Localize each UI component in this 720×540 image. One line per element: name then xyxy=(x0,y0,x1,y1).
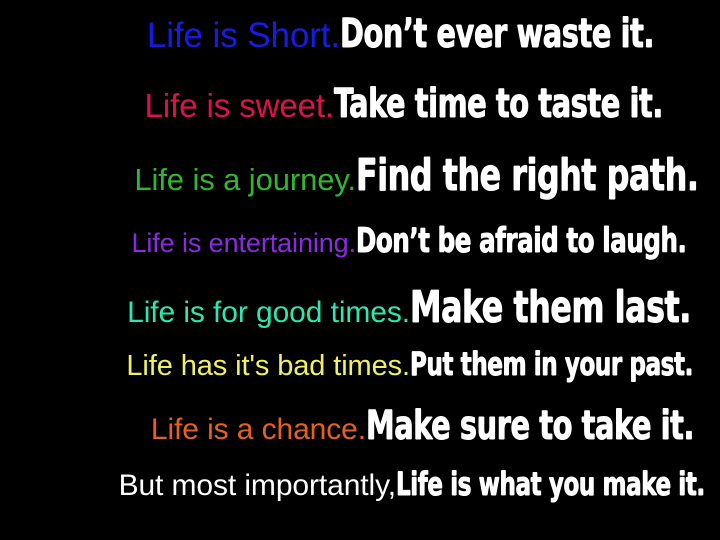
quote-line-2-response: Take time to taste it. xyxy=(334,84,663,124)
quote-line-2-prompt: Life is sweet. xyxy=(4,89,334,122)
quote-line-7: Life is a chance. Make sure to take it. xyxy=(0,406,720,468)
quote-line-1-prompt: Life is Short. xyxy=(4,18,340,53)
quote-line-5: Life is for good times. Make them last. xyxy=(0,286,720,348)
quote-line-7-response: Make sure to take it. xyxy=(366,406,694,446)
quote-line-8: But most importantly, Life is what you m… xyxy=(0,468,720,526)
quote-line-3-prompt: Life is a journey. xyxy=(4,164,356,195)
inspirational-quote-poster: Life is Short. Don’t ever waste it. Life… xyxy=(0,0,720,540)
quote-line-5-prompt: Life is for good times. xyxy=(4,298,410,328)
quote-line-2: Life is sweet. Take time to taste it. xyxy=(0,84,720,154)
quote-line-7-prompt: Life is a chance. xyxy=(4,415,366,445)
quote-line-6-response: Put them in your past. xyxy=(410,348,693,380)
quote-line-8-prompt: But most importantly, xyxy=(4,471,396,501)
quote-line-6-prompt: Life has it's bad times. xyxy=(4,352,410,381)
quote-line-3-response: Find the right path. xyxy=(356,154,699,198)
quote-line-4: Life is entertaining. Don’t be afraid to… xyxy=(0,224,720,286)
quote-line-1: Life is Short. Don’t ever waste it. xyxy=(0,14,720,84)
quote-line-5-response: Make them last. xyxy=(410,286,691,330)
quote-line-6: Life has it's bad times. Put them in you… xyxy=(0,348,720,406)
quote-line-1-response: Don’t ever waste it. xyxy=(340,14,654,54)
quote-line-8-response: Life is what you make it. xyxy=(396,468,705,500)
quote-line-4-response: Don’t be afraid to laugh. xyxy=(356,224,686,258)
quote-line-3: Life is a journey. Find the right path. xyxy=(0,154,720,224)
quote-line-4-prompt: Life is entertaining. xyxy=(4,230,356,257)
